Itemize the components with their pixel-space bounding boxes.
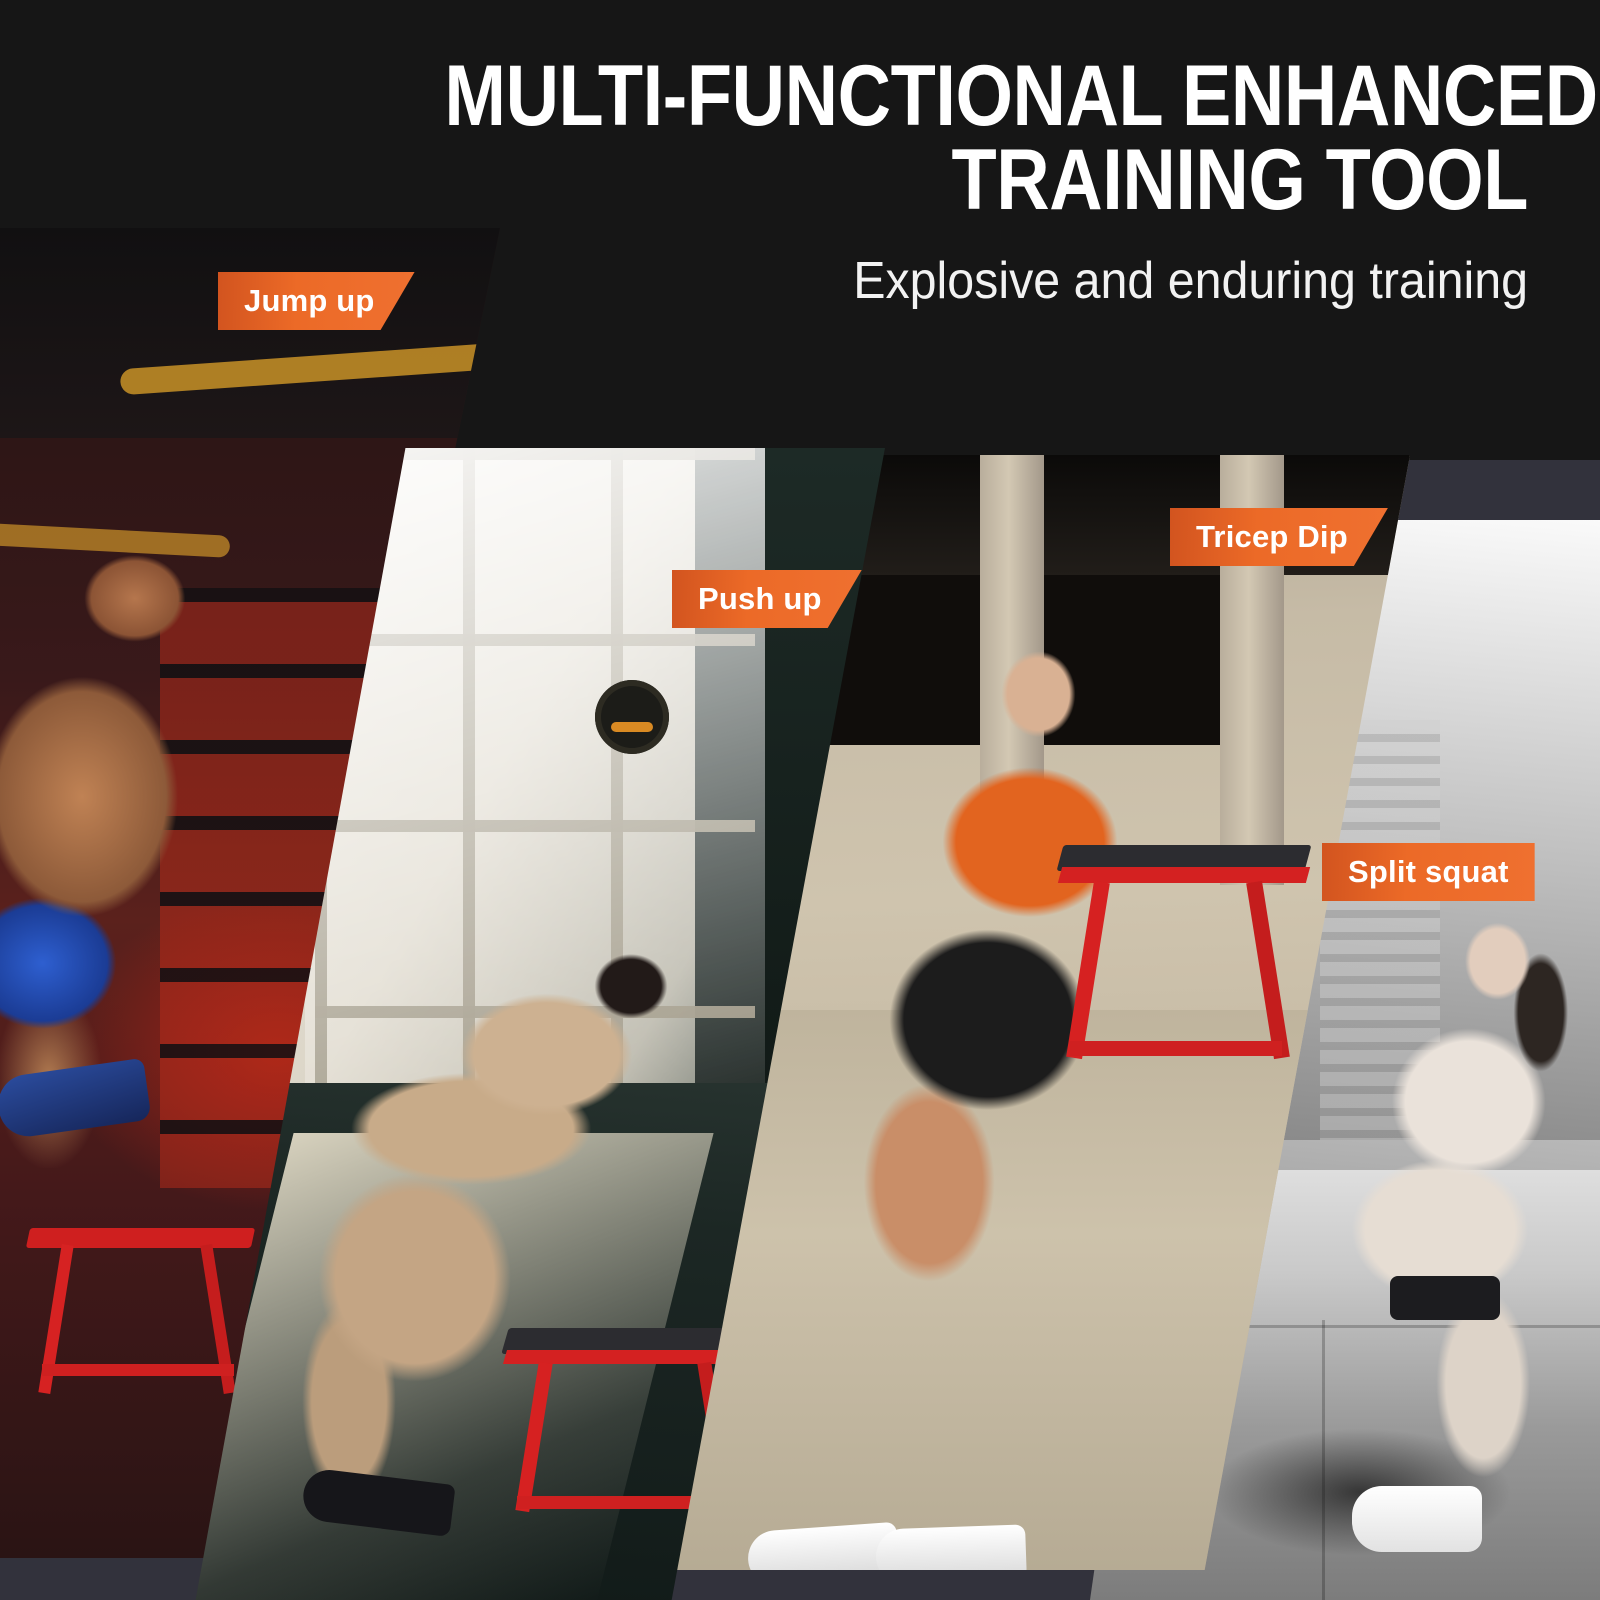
badge-jump-up: Jump up [218, 272, 415, 330]
plyo-box-right-leg [1246, 881, 1290, 1059]
badge-label: Jump up [244, 283, 375, 319]
page-subtitle: Explosive and enduring training [356, 249, 1528, 314]
badge-split-squat: Split squat [1322, 843, 1535, 901]
athlete-shoe-right [875, 1524, 1027, 1570]
badge-label: Push up [698, 581, 822, 617]
athlete-split-squat [1260, 910, 1600, 1550]
plyo-box-brace [42, 1364, 234, 1376]
plyo-box-brace [1070, 1041, 1282, 1056]
page-title-line-2: TRAINING TOOL [444, 138, 1528, 222]
plyo-box-left-leg [1066, 881, 1110, 1059]
plyo-box-left-leg [515, 1362, 552, 1512]
badge-push-up: Push up [672, 570, 862, 628]
badge-label: Tricep Dip [1196, 519, 1348, 555]
badge-label: Split squat [1348, 854, 1509, 890]
athlete-shoe [1352, 1486, 1482, 1552]
plyo-box-top [26, 1228, 255, 1248]
wall-clock [595, 680, 669, 754]
gym-ceiling [0, 228, 500, 438]
product-poster: MULTI-FUNCTIONAL ENHANCED TRAINING TOOL … [0, 0, 1600, 1600]
dumbbell [1390, 1276, 1500, 1320]
plyo-box-red [28, 1228, 258, 1398]
plyo-box-red [1060, 845, 1310, 1075]
badge-tricep-dip: Tricep Dip [1170, 508, 1388, 566]
page-title-line-1: MULTI-FUNCTIONAL ENHANCED [444, 54, 1528, 138]
